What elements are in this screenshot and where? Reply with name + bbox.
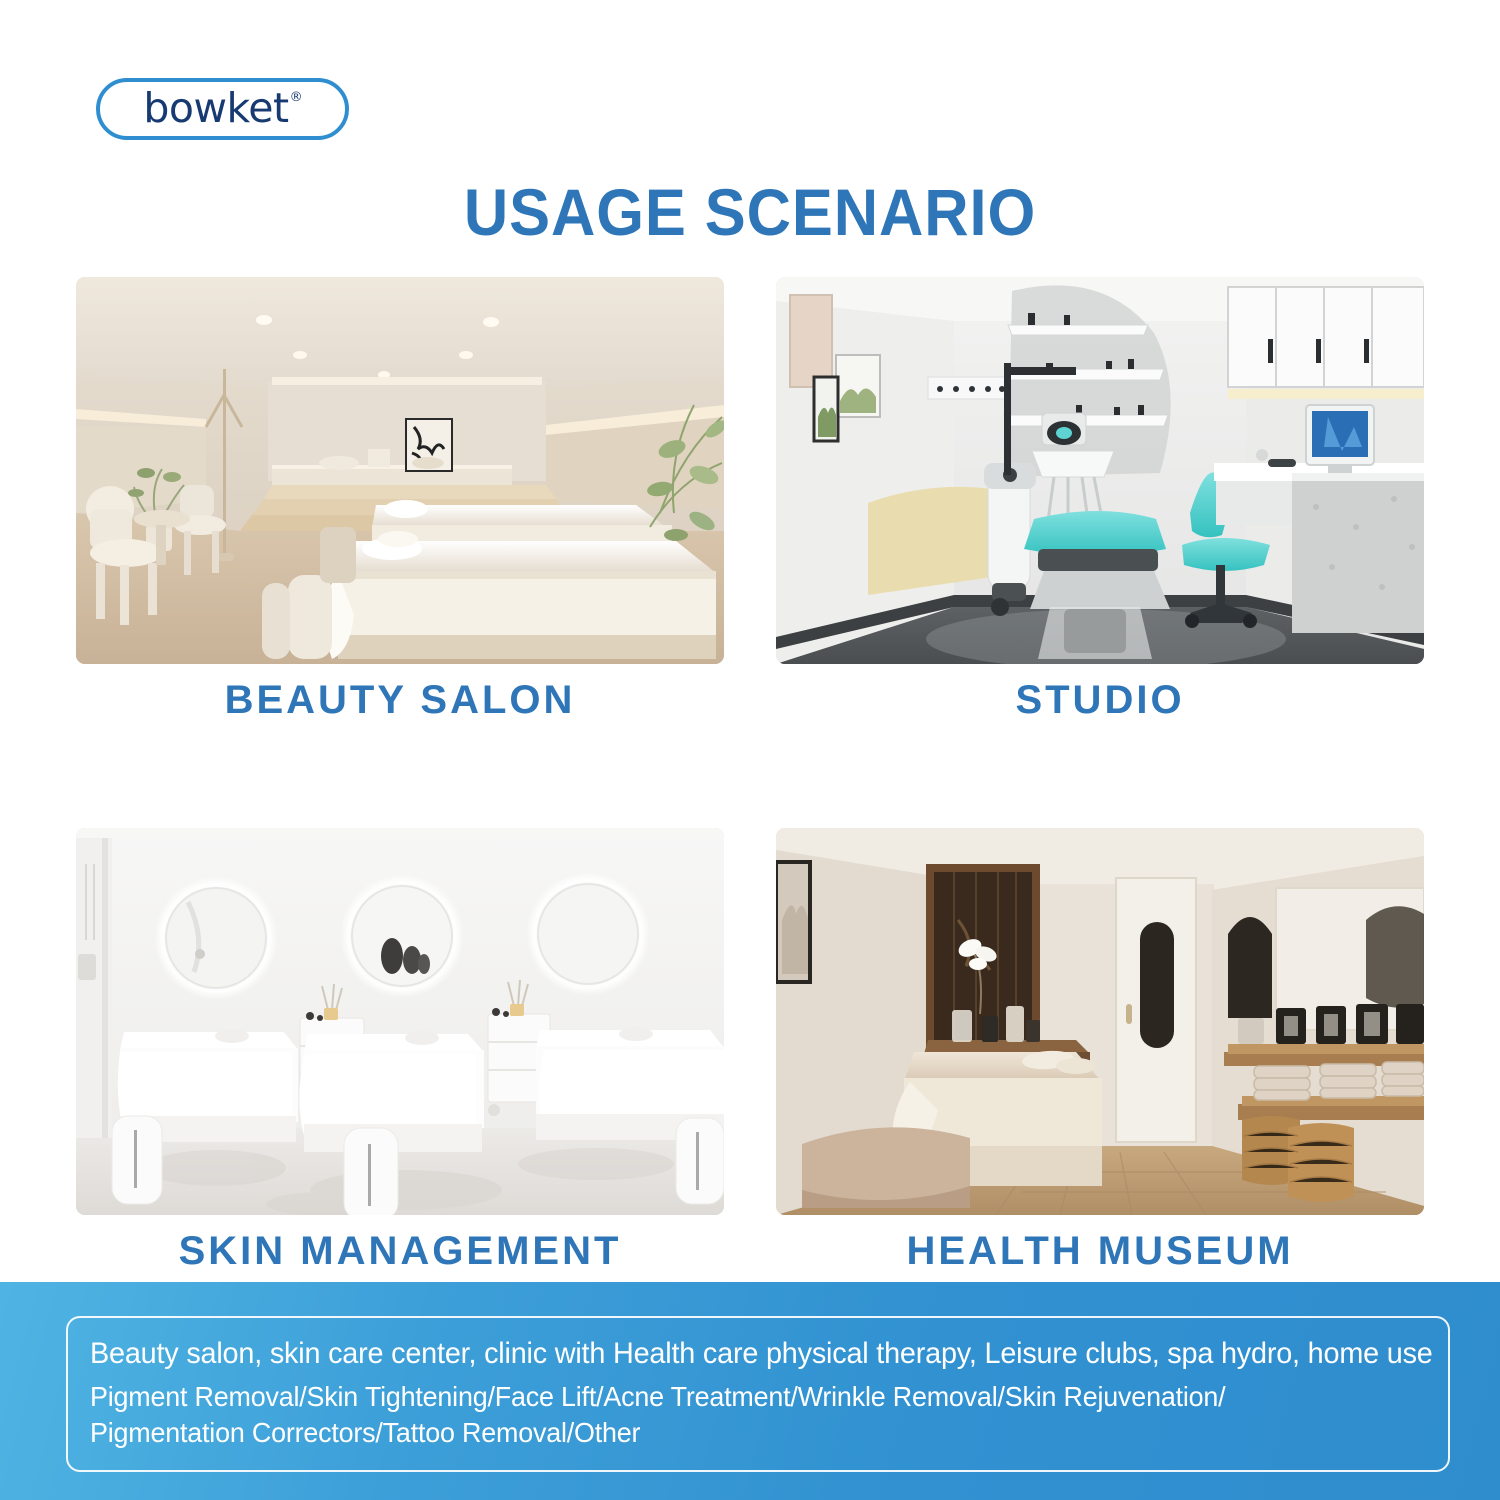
scenario-label-skin-management: SKIN MANAGEMENT: [76, 1229, 724, 1274]
scenario-card-health-museum[interactable]: HEALTH MUSEUM: [776, 828, 1424, 1274]
application-text-box: Beauty salon, skin care center, clinic w…: [66, 1316, 1450, 1472]
scenario-card-beauty-salon[interactable]: BEAUTY SALON: [76, 277, 724, 723]
application-headline: Beauty salon, skin care center, clinic w…: [90, 1335, 1373, 1373]
scenario-row-1: BEAUTY SALON: [76, 277, 1424, 723]
brand-logo: bowket®: [96, 78, 349, 140]
health-museum-image: [776, 828, 1424, 1215]
functions-line-1: Pigment Removal/Skin Tightening/Face Lif…: [90, 1379, 1373, 1416]
beauty-salon-image: [76, 277, 724, 664]
scenario-label-health-museum: HEALTH MUSEUM: [776, 1229, 1424, 1274]
scenario-label-studio: STUDIO: [776, 678, 1424, 723]
scenario-card-skin-management[interactable]: SKIN MANAGEMENT: [76, 828, 724, 1274]
scenario-grid: BEAUTY SALON: [76, 277, 1424, 1274]
brand-logo-text: bowket: [143, 88, 288, 129]
scenario-row-2: SKIN MANAGEMENT: [76, 828, 1424, 1274]
scenario-label-beauty-salon: BEAUTY SALON: [76, 678, 724, 723]
functions-line-2: Pigmentation Correctors/Tattoo Removal/O…: [90, 1415, 1373, 1452]
scenario-card-studio[interactable]: STUDIO: [776, 277, 1424, 723]
page-title: USAGE SCENARIO: [53, 174, 1448, 250]
usage-scenario-page: bowket® USAGE SCENARIO: [0, 0, 1500, 1500]
registered-trademark-icon: ®: [290, 90, 303, 105]
application-banner: Beauty salon, skin care center, clinic w…: [0, 1282, 1500, 1500]
skin-management-image: [76, 828, 724, 1215]
studio-image: [776, 277, 1424, 664]
application-functions: Pigment Removal/Skin Tightening/Face Lif…: [90, 1379, 1373, 1453]
